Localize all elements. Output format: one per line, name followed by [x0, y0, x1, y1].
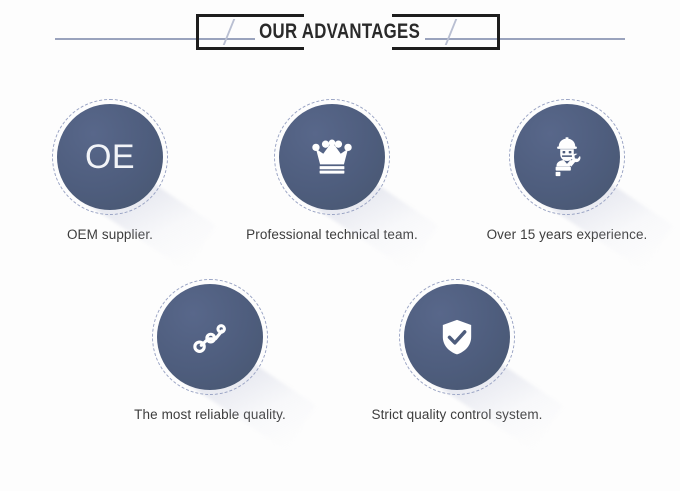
advantage-caption: Professional technical team. — [217, 226, 447, 244]
advantage-circle — [279, 104, 385, 210]
slash-decoration-left — [223, 19, 236, 45]
advantage-caption: OEM supplier. — [0, 226, 225, 244]
page-title: OUR ADVANTAGES — [0, 14, 680, 50]
node-network-icon — [188, 315, 232, 359]
advantage-caption: The most reliable quality. — [95, 406, 325, 424]
advantage-circle: OE — [57, 104, 163, 210]
advantage-item-over-15-years-experience: Over 15 years experience. — [452, 92, 680, 244]
advantage-badge — [452, 92, 680, 222]
advantage-badge — [217, 92, 447, 222]
advantage-item-professional-technical-team: Professional technical team. — [217, 92, 447, 244]
advantage-badge — [95, 272, 325, 402]
advantage-caption: Over 15 years experience. — [452, 226, 680, 244]
advantage-circle — [404, 284, 510, 390]
advantage-circle — [157, 284, 263, 390]
advantage-item-oem-supplier: OE OEM supplier. — [0, 92, 225, 244]
crown-icon — [310, 135, 354, 179]
section-header: OUR ADVANTAGES — [0, 0, 680, 78]
advantage-caption: Strict quality control system. — [342, 406, 572, 424]
worker-wrench-icon — [545, 135, 589, 179]
oe-text-badge: OE — [85, 140, 135, 174]
page-title-text: OUR ADVANTAGES — [260, 20, 421, 44]
advantage-item-strict-quality-control-system: Strict quality control system. — [342, 272, 572, 424]
advantage-circle — [514, 104, 620, 210]
advantage-badge — [342, 272, 572, 402]
shield-check-icon — [437, 317, 477, 357]
advantage-badge: OE — [0, 92, 225, 222]
advantage-item-most-reliable-quality: The most reliable quality. — [95, 272, 325, 424]
slash-decoration-right — [444, 19, 457, 45]
